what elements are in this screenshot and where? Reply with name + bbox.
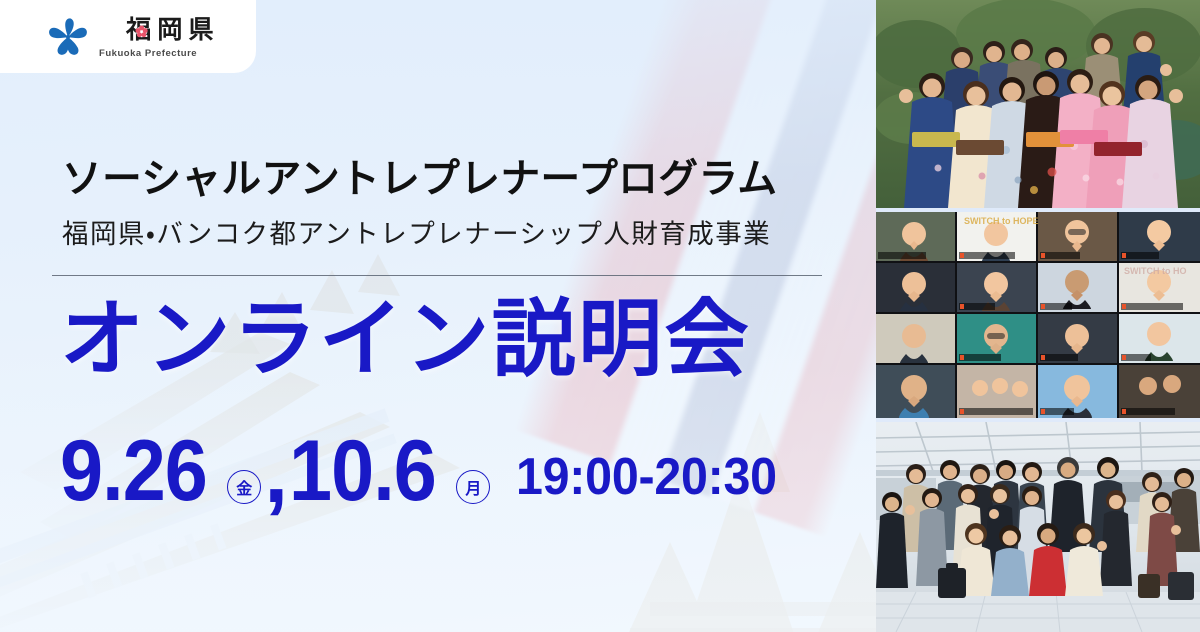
svg-text:SWITCH to HOPE: SWITCH to HOPE bbox=[964, 216, 1039, 226]
photo-zoom-meeting-grid: SWITCH to HOPE SWITCH to HO bbox=[876, 212, 1200, 418]
date-1-value: 9.26 bbox=[60, 428, 207, 514]
event-title: オンライン説明会 bbox=[60, 296, 751, 383]
svg-text:SWITCH to HO: SWITCH to HO bbox=[1124, 266, 1187, 276]
date-separator: , bbox=[264, 430, 288, 516]
program-title: ソーシャルアントレプレナープログラム bbox=[62, 146, 777, 204]
photo-kimono-group-garden bbox=[876, 0, 1200, 208]
poster-content: ソーシャルアントレプレナープログラム 福岡県・バンコク都アントレプレナーシップ人… bbox=[52, 0, 842, 632]
event-poster: 福 岡 県 Fukuoka Prefecture bbox=[0, 0, 1200, 632]
schedule-line: 9.26 金 , 10.6 月 19:00-20:30 bbox=[60, 428, 797, 514]
date-1-day-of-week: 金 bbox=[227, 470, 261, 504]
event-time: 19:00-20:30 bbox=[516, 451, 777, 503]
date-2-value: 10.6 bbox=[289, 428, 436, 514]
date-2-day-of-week: 月 bbox=[456, 470, 490, 504]
photo-airport-group bbox=[876, 422, 1200, 632]
divider-rule bbox=[52, 275, 822, 276]
photo-column: SWITCH to HOPE SWITCH to HO bbox=[876, 0, 1200, 632]
program-subtitle: 福岡県・バンコク都アントレプレナーシップ人財育成事業 bbox=[62, 212, 771, 251]
